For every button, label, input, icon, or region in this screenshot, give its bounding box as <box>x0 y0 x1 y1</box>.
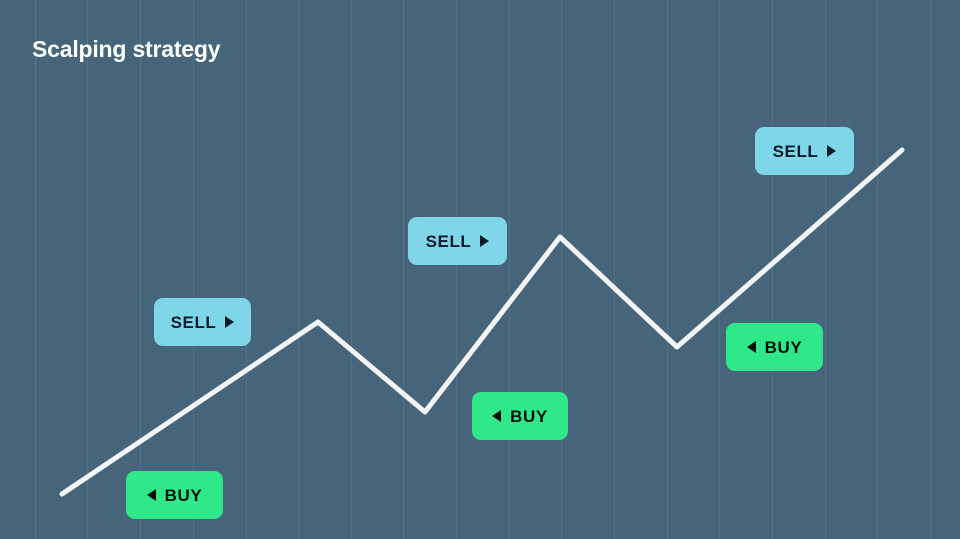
buy-badge-label: BUY <box>165 487 203 504</box>
sell-badge-label: SELL <box>171 314 217 331</box>
sell-signal-badge[interactable]: SELL <box>408 217 507 265</box>
buy-badge-label: BUY <box>510 408 548 425</box>
sell-badge-label: SELL <box>773 143 819 160</box>
buy-badge-label: BUY <box>765 339 803 356</box>
arrow-right-icon <box>480 235 489 247</box>
arrow-left-icon <box>747 341 756 353</box>
sell-signal-badge[interactable]: SELL <box>755 127 854 175</box>
arrow-left-icon <box>147 489 156 501</box>
arrow-right-icon <box>827 145 836 157</box>
arrow-left-icon <box>492 410 501 422</box>
buy-signal-badge[interactable]: BUY <box>126 471 223 519</box>
buy-signal-badge[interactable]: BUY <box>726 323 823 371</box>
price-line-chart <box>0 0 960 539</box>
sell-signal-badge[interactable]: SELL <box>154 298 251 346</box>
arrow-right-icon <box>225 316 234 328</box>
sell-badge-label: SELL <box>426 233 472 250</box>
buy-signal-badge[interactable]: BUY <box>472 392 568 440</box>
page-title: Scalping strategy <box>32 34 220 64</box>
chart-canvas: Scalping strategy BUYSELLSELLBUYBUYSELL <box>0 0 960 539</box>
